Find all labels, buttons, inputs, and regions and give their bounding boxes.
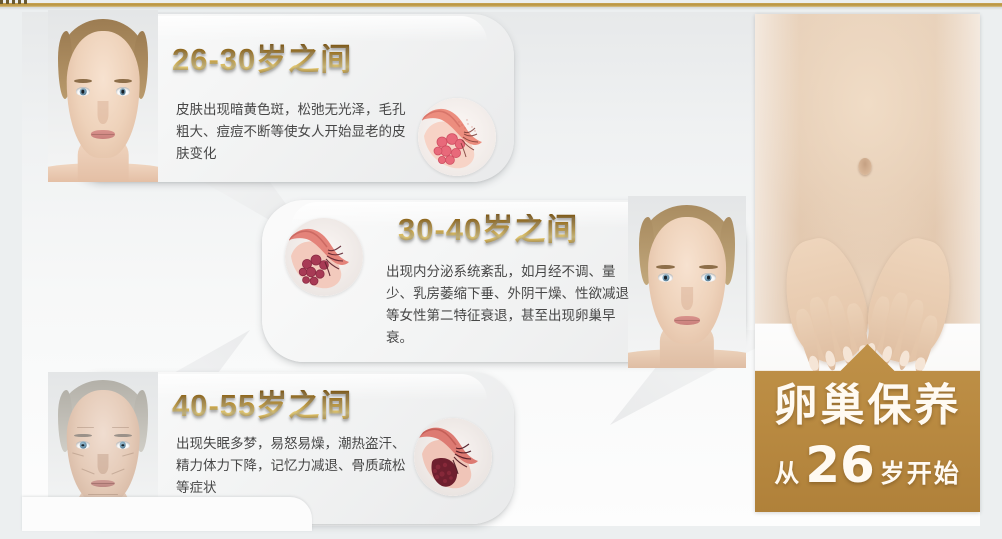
stage-title-30-40: 30-40岁之间 xyxy=(398,214,578,245)
ovary-illustration-aged-icon xyxy=(414,418,492,496)
banner-sub-suffix: 岁开始 xyxy=(880,459,961,488)
stage-body-30-40: 出现内分泌系统紊乱，如月经不调、量少、乳房萎缩下垂、外阴干燥、性欲减退等女性第二… xyxy=(386,262,636,349)
banner-title: 卵巢保养 xyxy=(755,384,980,428)
promo-page: 26-30岁之间 皮肤出现暗黄色斑，松弛无光泽，毛孔粗大、痘痘不断等使女人开始显… xyxy=(0,0,1002,539)
stage-body-26-30: 皮肤出现暗黄色斑，松弛无光泽，毛孔粗大、痘痘不断等使女人开始显老的皮肤变化 xyxy=(176,100,416,166)
woman-abdomen-photo-panel: 卵巢保养 从26岁开始 xyxy=(755,14,980,512)
navel xyxy=(859,158,872,175)
banner-sub-number: 26 xyxy=(805,436,875,494)
stage-body-40-55: 出现失眠多梦，易怒易燥，潮热盗汗、精力体力下降，记忆力减退、骨质疏松等症状 xyxy=(176,434,416,500)
ovary-illustration-declining-icon xyxy=(285,218,363,296)
banner-sub-prefix: 从 xyxy=(774,459,800,488)
top-rule-shadow xyxy=(0,7,1002,10)
young-woman-face-photo xyxy=(48,10,158,182)
middle-aged-woman-face-photo xyxy=(628,196,746,368)
stage-title-40-55: 40-55岁之间 xyxy=(172,390,352,421)
ovary-illustration-healthy-icon xyxy=(418,98,496,176)
banner-subtitle: 从26岁开始 xyxy=(755,440,980,490)
top-dot-marks xyxy=(0,0,30,4)
card-bottom-scoop xyxy=(22,497,312,531)
stage-title-26-30: 26-30岁之间 xyxy=(172,44,352,75)
